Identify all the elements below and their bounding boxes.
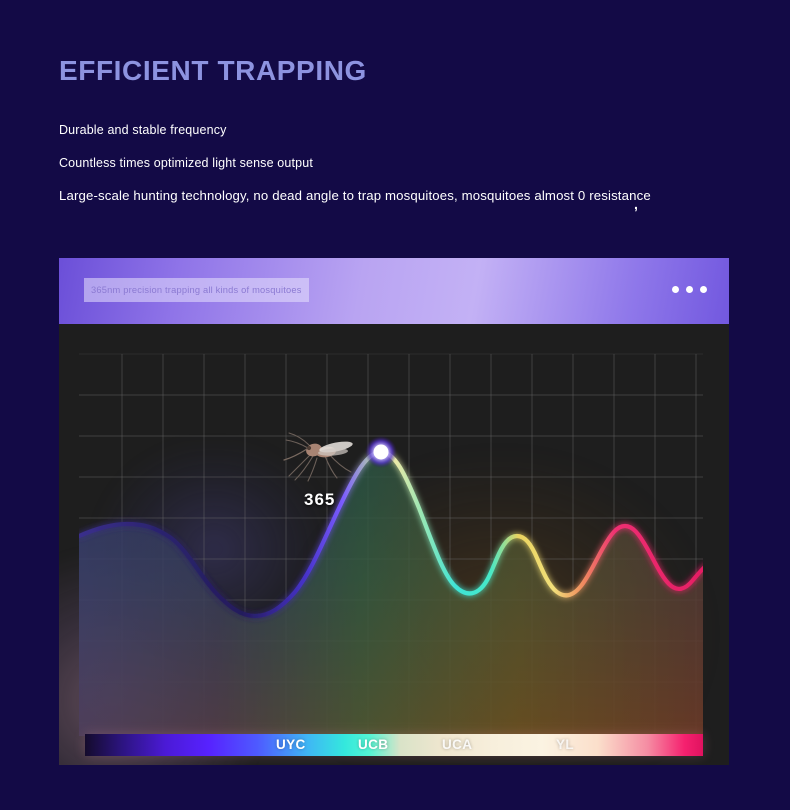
dot-2 (686, 286, 693, 293)
feature-bullet-list: Durable and stable frequency Countless t… (59, 124, 759, 222)
header-caption-chip: 365nm precision trapping all kinds of mo… (84, 278, 309, 302)
card-header-bar: 365nm precision trapping all kinds of mo… (59, 258, 729, 324)
dot-1 (672, 286, 679, 293)
peak-wavelength-label: 365 (304, 490, 335, 510)
list-item: Durable and stable frequency (59, 124, 759, 137)
mosquito-icon (281, 428, 371, 484)
band-label-ucb: UCB (358, 737, 388, 752)
spectrum-area-tint (79, 452, 707, 736)
spectrum-plot-svg (59, 324, 729, 765)
spectrum-band-gradient (85, 734, 703, 756)
trailing-punctuation: , (634, 196, 638, 212)
band-label-yl: YL (556, 737, 574, 752)
spectrum-card: 365nm precision trapping all kinds of mo… (59, 258, 729, 765)
more-horizontal-icon[interactable] (672, 286, 707, 293)
chart-canvas: 365 UYC UCB UCA YL 200 300 365 400 500 6… (59, 324, 729, 765)
list-item: Countless times optimized light sense ou… (59, 157, 759, 170)
page-root: EFFICIENT TRAPPING Durable and stable fr… (0, 0, 790, 810)
dot-3 (700, 286, 707, 293)
chart-area: 365 UYC UCB UCA YL 200 300 365 400 500 6… (59, 324, 729, 765)
header-caption-label: 365nm precision trapping all kinds of mo… (91, 285, 302, 295)
page-title: EFFICIENT TRAPPING (59, 55, 367, 87)
spectrum-band: UYC UCB UCA YL (85, 734, 703, 756)
band-label-uyc: UYC (276, 737, 306, 752)
band-label-uca: UCA (442, 737, 472, 752)
list-item: Large-scale hunting technology, no dead … (59, 189, 759, 202)
